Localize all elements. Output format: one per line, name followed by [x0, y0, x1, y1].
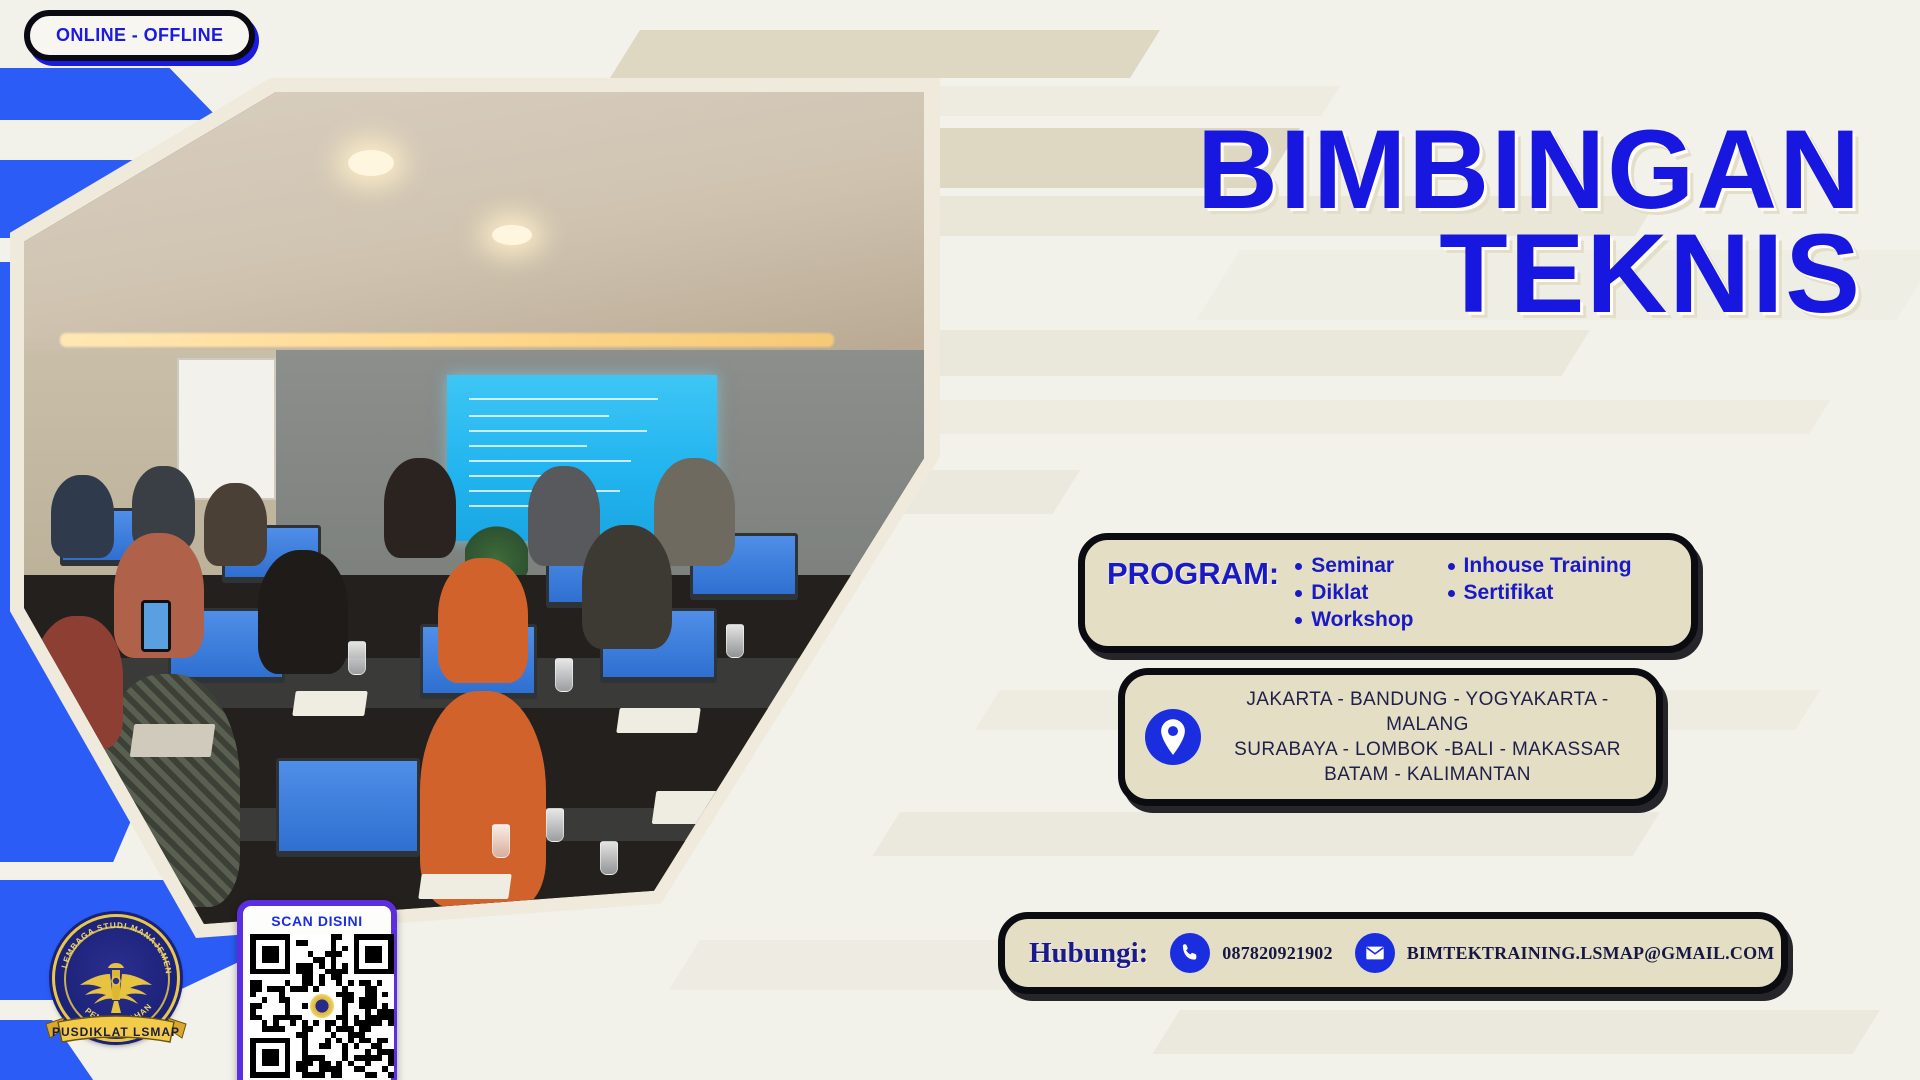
bullet-icon: [1295, 617, 1302, 624]
program-item-label: Seminar: [1311, 554, 1394, 578]
qr-code-image: [250, 934, 394, 1078]
envelope-icon: [1355, 933, 1395, 973]
poster-canvas: ONLINE - OFFLINE BIMBINGAN TEKNIS PROGRA…: [0, 0, 1920, 1080]
online-offline-badge[interactable]: ONLINE - OFFLINE: [24, 10, 255, 61]
program-label: PROGRAM:: [1107, 554, 1279, 592]
bullet-icon: [1295, 590, 1302, 597]
location-line: JAKARTA - BANDUNG - YOGYAKARTA - MALANG: [1219, 687, 1636, 737]
contact-email[interactable]: BIMTEKTRAINING.LSMAP@GMAIL.COM: [1355, 933, 1775, 973]
program-item: Diklat: [1295, 581, 1413, 605]
program-column-left: Seminar Diklat Workshop: [1295, 554, 1413, 632]
qr-code-card[interactable]: SCAN DISINI: [237, 900, 397, 1080]
program-column-right: Inhouse Training Sertifikat: [1448, 554, 1632, 632]
bullet-icon: [1295, 563, 1302, 570]
location-line: SURABAYA - LOMBOK -BALI - MAKASSAR: [1219, 737, 1636, 762]
phone-number: 087820921902: [1222, 943, 1332, 964]
program-item: Sertifikat: [1448, 581, 1632, 605]
blue-chevron-1: [0, 68, 220, 120]
program-item-label: Inhouse Training: [1464, 554, 1632, 578]
contact-box: Hubungi: 087820921902 BIMTEKTRAINING.LSM…: [998, 912, 1788, 994]
logo-ribbon: PUSDIKLAT LSMAP: [38, 1008, 194, 1054]
contact-label: Hubungi:: [1029, 937, 1148, 970]
program-item-label: Sertifikat: [1464, 581, 1554, 605]
locations-box: JAKARTA - BANDUNG - YOGYAKARTA - MALANG …: [1118, 668, 1663, 806]
map-pin-icon: [1145, 709, 1201, 765]
program-item: Inhouse Training: [1448, 554, 1632, 578]
title-line-2: TEKNIS: [1197, 222, 1862, 326]
badge-label: ONLINE - OFFLINE: [56, 25, 223, 45]
location-line: BATAM - KALIMANTAN: [1219, 762, 1636, 787]
email-address: BIMTEKTRAINING.LSMAP@GMAIL.COM: [1407, 943, 1775, 964]
title-line-1: BIMBINGAN: [1197, 118, 1862, 222]
program-item-label: Workshop: [1311, 608, 1413, 632]
svg-text:PUSDIKLAT LSMAP: PUSDIKLAT LSMAP: [52, 1025, 180, 1039]
training-photo: [24, 92, 924, 924]
locations-text: JAKARTA - BANDUNG - YOGYAKARTA - MALANG …: [1219, 687, 1636, 787]
bullet-icon: [1448, 563, 1455, 570]
contact-phone[interactable]: 087820921902: [1170, 933, 1332, 973]
program-item: Seminar: [1295, 554, 1413, 578]
qr-center-logo-icon: [308, 992, 336, 1020]
photo-scene: [24, 92, 924, 924]
phone-icon: [1170, 933, 1210, 973]
bullet-icon: [1448, 590, 1455, 597]
program-item: Workshop: [1295, 608, 1413, 632]
program-item-label: Diklat: [1311, 581, 1368, 605]
page-title: BIMBINGAN TEKNIS: [1197, 118, 1862, 326]
program-box: PROGRAM: Seminar Diklat Workshop: [1078, 533, 1698, 653]
qr-title: SCAN DISINI: [250, 913, 384, 929]
organization-logo: LEMBAGA STUDI MANAJEMEN AKUNTANSI DAN PE…: [38, 912, 194, 1068]
